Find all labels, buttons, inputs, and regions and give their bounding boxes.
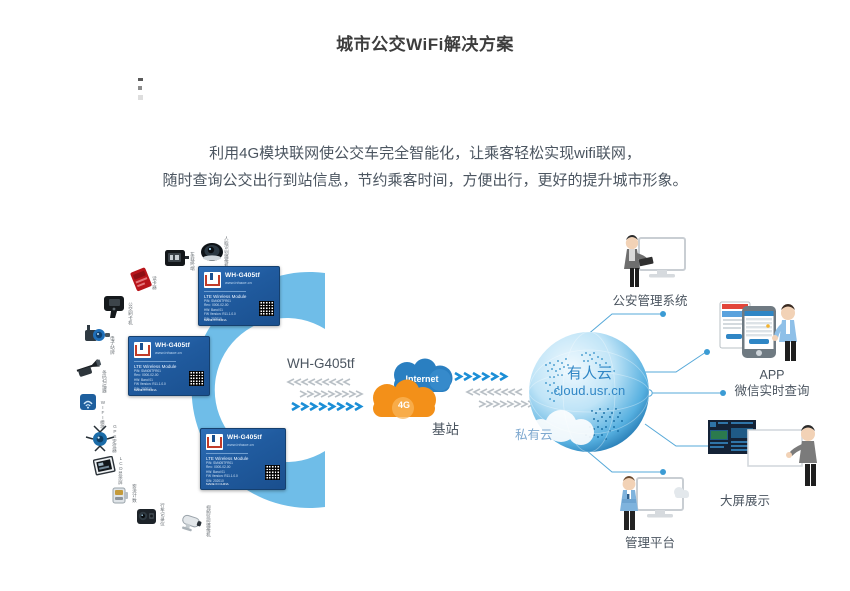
device-bullet-camera [178, 512, 206, 539]
device-label-9: 客流计数 [132, 484, 137, 502]
endpoint-big-screen[interactable]: 大屏展示 [704, 418, 830, 509]
endpoint-label: 公安管理系统 [605, 293, 695, 309]
monitor-with-person-icon [605, 472, 695, 530]
spec-line: FW Version: R11.1.0.0 [204, 312, 236, 316]
module-card-middle: WH-G405tf www.inhaoe.cn LTE Wireless Mod… [128, 336, 210, 396]
module-url: www.inhaoe.cn [225, 280, 252, 285]
base-station-label: 基站 [432, 418, 459, 438]
spec-line: FW Version: R11.1.0.0 [134, 382, 166, 386]
device-label-5: 条码扫描器 [102, 370, 107, 393]
endpoint-public-security[interactable]: 公安管理系统 [605, 232, 695, 309]
endpoint-app-wechat[interactable]: APP 微信实时查询 [712, 300, 832, 399]
mark-2 [138, 86, 142, 90]
module-subtitle: LTE Wireless Module [134, 361, 176, 369]
lead-paragraph: 利用4G模块联网使公交车完全智能化，让乘客轻松实现wifi联网， 随时查询公交出… [0, 140, 850, 194]
usr-logo-icon [204, 272, 221, 288]
module-name: WH-G405tf [225, 272, 260, 279]
module-origin: MADE IN CHINA [206, 482, 229, 486]
smartphone-with-person-icon [712, 300, 832, 362]
module-origin: MADE IN CHINA [134, 388, 157, 392]
device-wifi-module [78, 392, 98, 417]
device-label-3: 公交刷卡机 [128, 302, 133, 325]
device-label-11: 视频监控摄像机 [206, 505, 211, 537]
module-origin: MADE IN CHINA [204, 318, 227, 322]
spec-line: FW Version: R11.1.0.0 [206, 474, 238, 478]
usr-logo-icon [206, 434, 223, 450]
qr-code-icon [259, 301, 274, 316]
endpoint-management-platform[interactable]: 管理平台 [605, 472, 695, 551]
endpoint-label-line1: APP [712, 367, 832, 383]
device-label-4: 电子站牌 [110, 336, 115, 354]
monitor-with-person-icon [605, 232, 695, 288]
decorative-marks [138, 78, 152, 118]
fourg-cloud-label: 4G [367, 400, 441, 410]
device-dashcam [134, 505, 160, 534]
module-url: www.inhaoe.cn [155, 350, 182, 355]
device-label-2: 读卡器 [152, 276, 157, 290]
device-label-8: LCD显示屏 [118, 456, 123, 485]
module-card-bottom: WH-G405tf www.inhaoe.cn LTE Wireless Mod… [200, 428, 286, 490]
device-black-validator [101, 292, 131, 327]
usr-logo-icon [134, 342, 151, 358]
device-dome-camera [200, 240, 224, 267]
private-cloud-label: 私有云 [515, 424, 553, 443]
module-flow-label: WH-G405tf [287, 356, 355, 371]
device-counter [108, 484, 132, 513]
qr-code-icon [265, 465, 280, 480]
device-label-7: GPS定位器 [112, 424, 117, 453]
qr-code-icon [189, 371, 204, 386]
module-name: WH-G405tf [227, 434, 262, 441]
diagram-canvas: 城市公交WiFi解决方案 利用4G模块联网使公交车完全智能化，让乘客轻松实现wi… [0, 0, 850, 591]
endpoint-label-line2: 微信实时查询 [712, 383, 832, 399]
chevrons-left-gray-right [296, 390, 368, 397]
mark-3 [138, 95, 143, 100]
fourg-cloud: 4G [367, 378, 441, 424]
module-name: WH-G405tf [155, 342, 190, 349]
chevrons-left-gray [284, 378, 356, 385]
device-label-1: 车载终端 [190, 252, 195, 270]
chevrons-right-blue [452, 371, 510, 382]
module-url: www.inhaoe.cn [227, 442, 254, 447]
module-subtitle: LTE Wireless Module [204, 291, 246, 299]
device-blue-sensor [83, 324, 111, 351]
device-label-0: 人脸识别摄像机 [224, 236, 229, 268]
device-black-terminal [164, 248, 190, 273]
module-subtitle: LTE Wireless Module [206, 453, 248, 461]
chevrons-right-gray-left [464, 388, 530, 395]
module-card-top: WH-G405tf www.inhaoe.cn LTE Wireless Mod… [198, 266, 280, 326]
device-lcd-display [93, 456, 117, 483]
chevrons-left-blue [288, 401, 368, 412]
endpoint-label: 管理平台 [605, 535, 695, 551]
big-screen-with-person-icon [704, 418, 830, 488]
page-title: 城市公交WiFi解决方案 [0, 30, 850, 55]
module-specs: P/N: SM405TFR01 Rev.: 0000-02-00 HW: Ban… [206, 461, 238, 483]
mark-1 [138, 78, 143, 81]
device-label-10: 行车记录仪 [160, 503, 165, 526]
device-barcode-scanner [74, 358, 104, 385]
lead-line-2: 随时查询公交出行到站信息，节约乘客时间，方便出行，更好的提升城市形象。 [0, 167, 850, 194]
endpoint-label: 大屏展示 [704, 493, 830, 509]
lead-line-1: 利用4G模块联网使公交车完全智能化，让乘客轻松实现wifi联网， [0, 140, 850, 167]
